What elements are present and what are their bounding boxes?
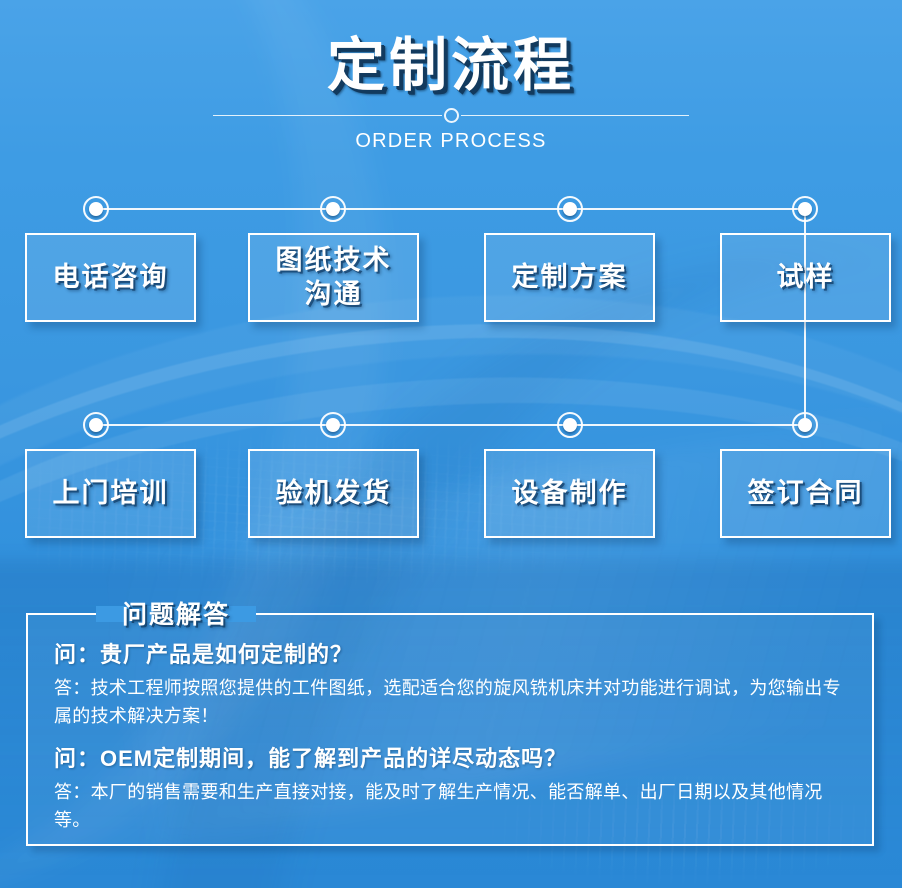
flow-step-equipment-production[interactable]: 设备制作 bbox=[484, 449, 655, 538]
faq-panel: 问：贵厂产品是如何定制的？ 答：技术工程师按照您提供的工件图纸，选配适合您的旋风… bbox=[26, 613, 874, 846]
faq-content: 问：贵厂产品是如何定制的？ 答：技术工程师按照您提供的工件图纸，选配适合您的旋风… bbox=[28, 615, 872, 844]
faq-item: 问：贵厂产品是如何定制的？ 答：技术工程师按照您提供的工件图纸，选配适合您的旋风… bbox=[54, 637, 846, 731]
process-flow: 电话咨询 图纸技术 沟通 定制方案 试样 上门培训 验机发货 设备制作 签订合同 bbox=[0, 0, 902, 560]
faq-section-title: 问题解答 bbox=[96, 595, 256, 631]
flow-step-label: 图纸技术 沟通 bbox=[276, 244, 392, 312]
flow-step-label: 上门培训 bbox=[53, 477, 169, 511]
flow-node-2 bbox=[320, 196, 346, 222]
flow-connector-row2 bbox=[96, 424, 806, 426]
order-process-infographic: 定制流程 ORDER PROCESS 电话咨询 图纸技 bbox=[0, 0, 902, 888]
flow-step-label: 验机发货 bbox=[276, 477, 392, 511]
flow-step-label: 设备制作 bbox=[512, 477, 628, 511]
faq-question: 问：OEM定制期间，能了解到产品的详尽动态吗？ bbox=[54, 741, 846, 773]
flow-step-sample-trial[interactable]: 试样 bbox=[720, 233, 891, 322]
faq-question: 问：贵厂产品是如何定制的？ bbox=[54, 637, 846, 669]
flow-step-label-line2: 沟通 bbox=[305, 279, 363, 309]
flow-node-6 bbox=[320, 412, 346, 438]
flow-step-phone-consultation[interactable]: 电话咨询 bbox=[25, 233, 196, 322]
flow-step-sign-contract[interactable]: 签订合同 bbox=[720, 449, 891, 538]
flow-step-label: 试样 bbox=[777, 261, 835, 295]
flow-step-label: 定制方案 bbox=[512, 261, 628, 295]
flow-step-label: 电话咨询 bbox=[53, 261, 169, 295]
flow-node-8 bbox=[792, 412, 818, 438]
flow-step-drawing-communication[interactable]: 图纸技术 沟通 bbox=[248, 233, 419, 322]
flow-step-custom-plan[interactable]: 定制方案 bbox=[484, 233, 655, 322]
flow-step-label-line1: 图纸技术 bbox=[276, 245, 392, 275]
flow-connector-row1 bbox=[96, 208, 806, 210]
faq-item: 问：OEM定制期间，能了解到产品的详尽动态吗？ 答：本厂的销售需要和生产直接对接… bbox=[54, 741, 846, 835]
flow-step-inspection-delivery[interactable]: 验机发货 bbox=[248, 449, 419, 538]
flow-node-4 bbox=[792, 196, 818, 222]
flow-node-3 bbox=[557, 196, 583, 222]
flow-node-1 bbox=[83, 196, 109, 222]
flow-node-5 bbox=[83, 412, 109, 438]
flow-node-7 bbox=[557, 412, 583, 438]
faq-answer: 答：技术工程师按照您提供的工件图纸，选配适合您的旋风铣机床并对功能进行调试，为您… bbox=[54, 675, 846, 731]
faq-answer: 答：本厂的销售需要和生产直接对接，能及时了解生产情况、能否解单、出厂日期以及其他… bbox=[54, 779, 846, 835]
flow-step-label: 签订合同 bbox=[748, 477, 864, 511]
flow-step-onsite-training[interactable]: 上门培训 bbox=[25, 449, 196, 538]
